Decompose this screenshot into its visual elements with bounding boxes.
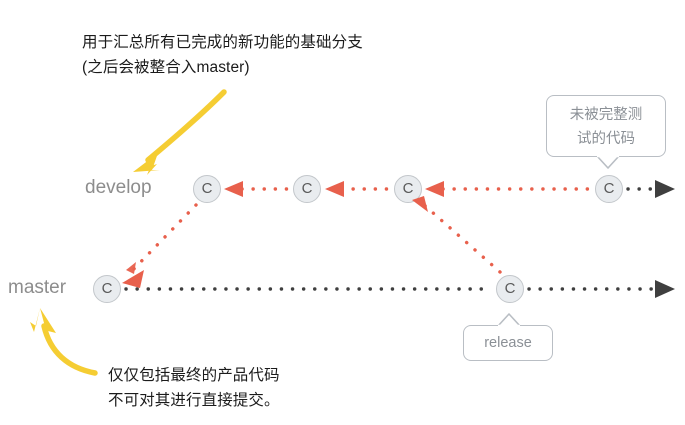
develop-commit-4[interactable]: C — [595, 175, 623, 203]
annotation-arrow-develop-icon — [133, 92, 224, 175]
master-end-arrowhead — [655, 280, 675, 298]
develop-commit-1[interactable]: C — [193, 175, 221, 203]
annotation-develop-text: 用于汇总所有已完成的新功能的基础分支 (之后会被整合入master) — [82, 30, 363, 80]
master-commit-2[interactable]: C — [496, 275, 524, 303]
callout-untested-notch — [597, 156, 619, 168]
develop-arrowhead-1 — [224, 181, 243, 197]
diagram-canvas: C C C C C C — [0, 0, 685, 425]
merge-link-develop-to-master — [128, 205, 196, 275]
callout-release-label[interactable]: release — [463, 325, 553, 361]
annotation-master-text: 仅仅包括最终的产品代码 不可对其进行直接提交。 — [108, 363, 280, 413]
develop-end-arrowhead — [655, 180, 675, 198]
callout-untested-code[interactable]: 未被完整测 试的代码 — [546, 95, 666, 157]
develop-commit-3[interactable]: C — [394, 175, 422, 203]
branch-label-master: master — [8, 278, 66, 297]
develop-arrowhead-3 — [425, 181, 444, 197]
develop-arrowhead-2 — [325, 181, 344, 197]
develop-commit-2[interactable]: C — [293, 175, 321, 203]
merge-arrowhead-to-master — [122, 270, 144, 288]
merge-link-release-to-develop — [423, 204, 500, 272]
branch-label-develop: develop — [85, 178, 152, 197]
master-branch-tick — [126, 262, 136, 274]
annotation-arrow-master-icon — [30, 308, 95, 373]
master-commit-1[interactable]: C — [93, 275, 121, 303]
